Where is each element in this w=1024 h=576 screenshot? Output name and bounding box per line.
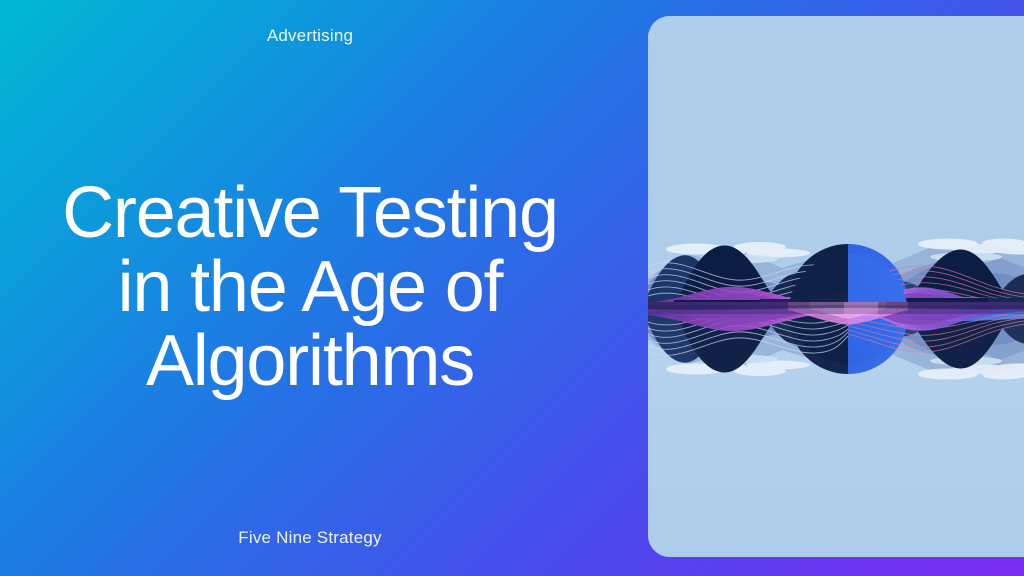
eyebrow-category-label: Advertising [267,26,353,46]
artwork-card [648,16,1024,557]
horizon-core-glow [844,302,878,316]
page-title: Creative Testing in the Age of Algorithm… [40,176,580,398]
footer-brand-label: Five Nine Strategy [238,528,381,548]
mirrored-landscape-illustration [648,16,1024,557]
horizon-line [648,305,1024,314]
title-slide: Advertising Creative Testing in the Age … [0,0,1024,576]
text-column: Advertising Creative Testing in the Age … [0,0,620,576]
